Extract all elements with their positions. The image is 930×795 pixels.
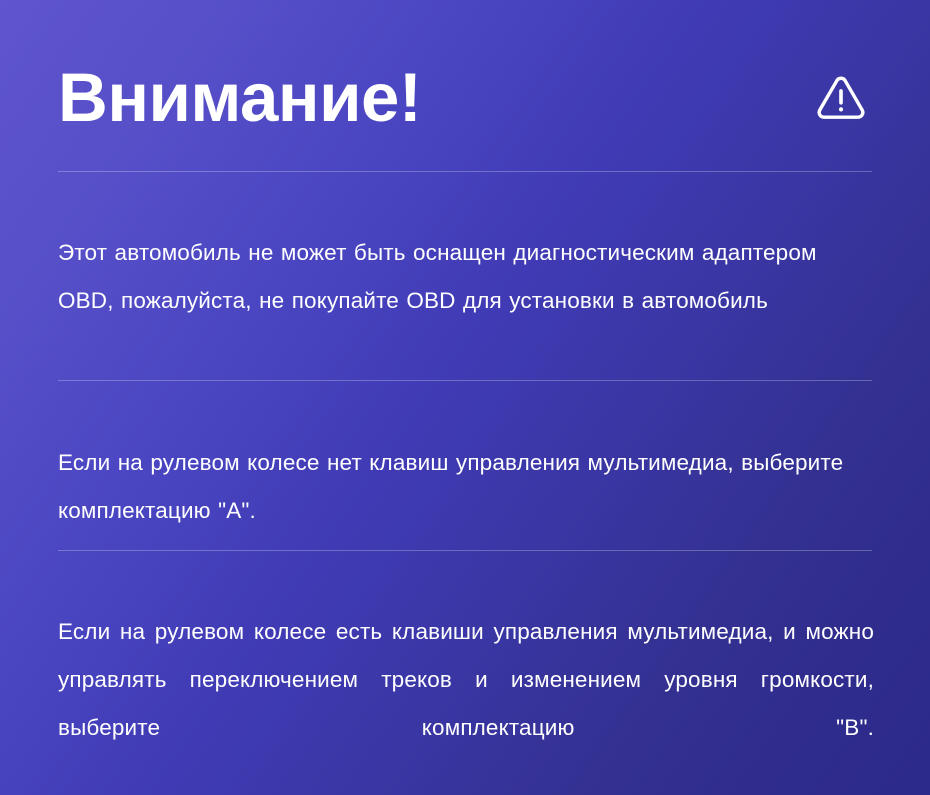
notice-text-trim-option-b: Если на рулевом колесе есть клавиши упра…: [58, 608, 874, 795]
warning-triangle-icon: [814, 71, 872, 125]
banner-header: Внимание!: [58, 58, 872, 138]
divider: [58, 380, 872, 381]
divider: [58, 171, 872, 172]
warning-notice-banner: Внимание! Этот автомобиль не может быть …: [0, 0, 930, 795]
page-title: Внимание!: [58, 58, 421, 138]
notice-text-obd-adapter-warning: Этот автомобиль не может быть оснащен ди…: [58, 229, 874, 325]
divider: [58, 550, 872, 551]
notice-text-trim-option-a: Если на рулевом колесе нет клавиш управл…: [58, 439, 874, 535]
